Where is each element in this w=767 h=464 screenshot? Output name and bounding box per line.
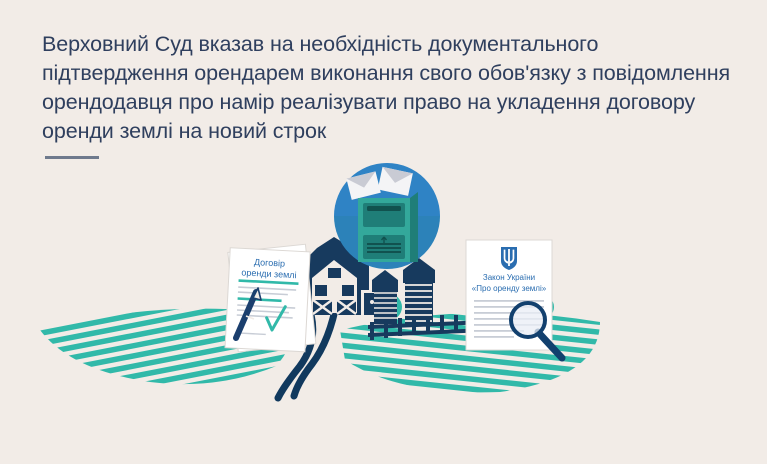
law-document-title-line2: «Про оренду землі»	[472, 284, 547, 293]
land-lease-law-document: Закон України «Про оренду землі»	[466, 240, 562, 358]
silo-icon	[372, 270, 398, 324]
land-lease-farm-illustration: Договір оренди землі	[0, 0, 767, 464]
poster-canvas: Верховний Суд вказав на необхідність док…	[0, 0, 767, 464]
ukraine-trident-emblem	[501, 247, 517, 270]
lease-contract-title-line1: Договір	[254, 257, 286, 269]
lease-contract-document: Договір оренди землі	[225, 244, 316, 352]
mailbox-badge-circle	[334, 163, 440, 269]
silo-icon	[403, 258, 435, 324]
law-document-title-line1: Закон України	[483, 273, 535, 282]
